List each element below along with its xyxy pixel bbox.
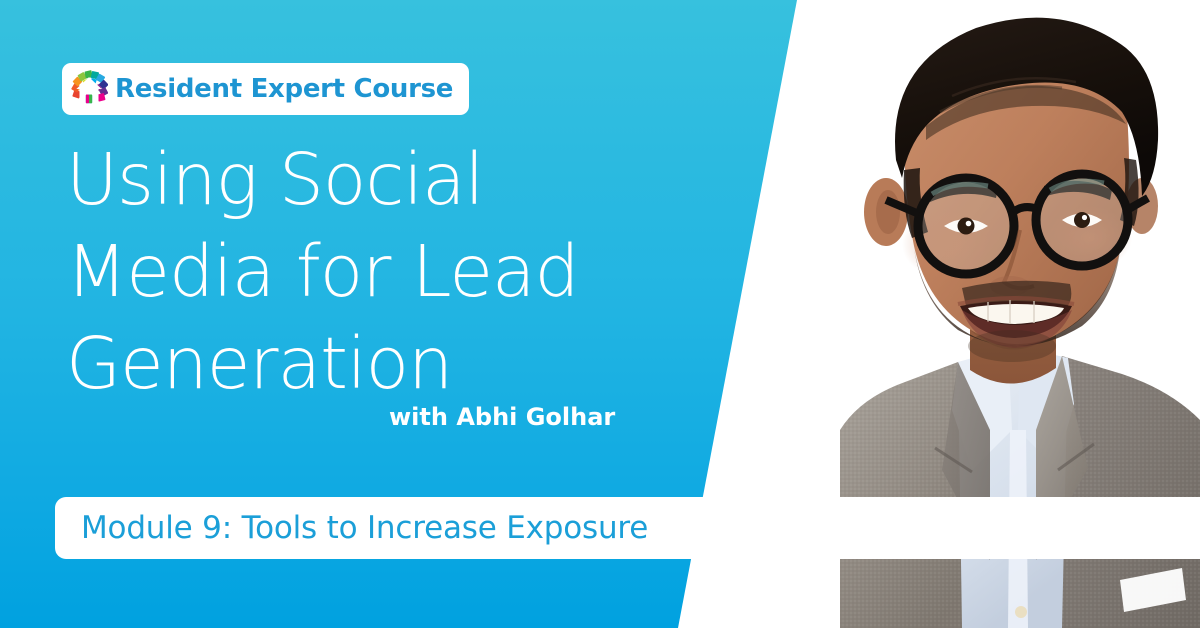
title-line-2: Media for Lead [66,226,706,318]
page-title: Using Social Media for Lead Generation [66,134,706,410]
house-arc-logo-icon [70,70,108,108]
portrait-torso [840,347,1200,628]
course-title-card: Resident Expert Course Using Social Medi… [0,0,1200,628]
title-line-1: Using Social [66,134,706,226]
module-banner: Module 9: Tools to Increase Exposure [55,497,1200,559]
title-line-3: Generation [66,318,706,410]
presenter-name: with Abhi Golhar [389,403,615,431]
brand-badge-label: Resident Expert Course [115,74,453,104]
brand-badge[interactable]: Resident Expert Course [62,63,469,115]
module-label: Module 9: Tools to Increase Exposure [81,510,648,546]
